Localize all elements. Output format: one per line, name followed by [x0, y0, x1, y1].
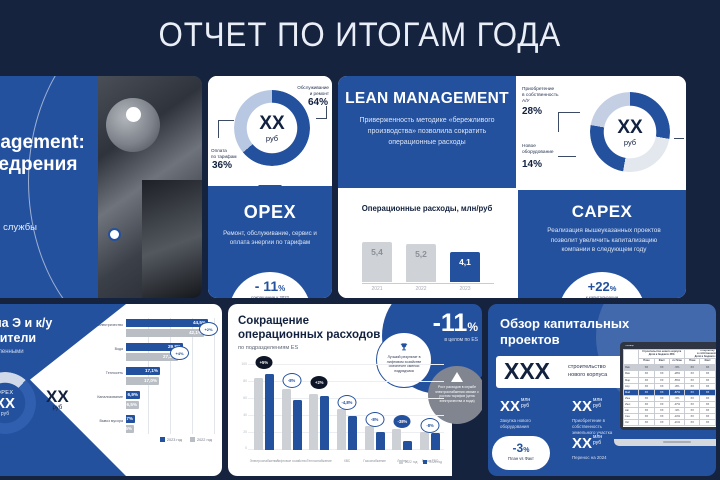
table-cell: XX [639, 420, 654, 426]
x-label-2021: 2021 [362, 286, 392, 292]
capex-item-label-2: Новое оборудование [522, 144, 572, 156]
capital-title: Обзор капитальных проектов [500, 316, 632, 347]
bar-group: +5% Электроснабжение [254, 374, 274, 450]
reduction-kpi-value: -11 [433, 309, 468, 337]
laptop-mockup: Таблица Строительство нового корпуса Дол… [614, 342, 716, 446]
bar-2022: 5,2 [406, 244, 436, 282]
lean-panel: LEAN MANAGEMENT Приверженность методике … [338, 76, 516, 188]
slide-card-opex[interactable]: XX руб Обслуживание и ремонт 64% Оплата … [208, 76, 332, 298]
warning-triangle-icon [451, 372, 463, 382]
leader-line-3 [674, 138, 684, 139]
capex-chip: +22% к капитализации компании [558, 272, 646, 298]
ring-unit: руб [1, 411, 9, 417]
laptop-lid: Таблица Строительство нового корпуса Дол… [620, 342, 716, 430]
capital-kpi-2-value: XX [572, 399, 592, 414]
opex-panel-title: OPEX [208, 202, 332, 223]
hbar-2022: 17,0% [126, 377, 159, 385]
leader-line-2 [558, 156, 576, 157]
hbar-2022: 1,5% [126, 425, 134, 433]
slide-card-lean-capex[interactable]: LEAN MANAGEMENT Приверженность методике … [338, 76, 686, 298]
leader-line-v [218, 120, 219, 138]
laptop-base [614, 439, 716, 446]
opex-chip: - 11% сокращение к 2022 [229, 272, 311, 298]
capital-kpi-1: XXмлн руб Закупка нового оборудования [500, 398, 562, 430]
bar-prev [420, 432, 429, 450]
capex-item-label-1: Приобретение в собственность А/У [522, 87, 576, 105]
hbar-2023: 6,9% [126, 391, 140, 399]
capital-pill-caption: План vs Факт [492, 456, 550, 461]
bar-prev [337, 409, 346, 450]
bar-curr [431, 433, 440, 450]
capex-item-value-1: 28% [522, 106, 542, 117]
capital-kpi-1-unit: млн руб [521, 398, 530, 409]
bar-group: -8% Газоснабжение [365, 426, 385, 450]
bar-value-2023: 4,1 [450, 257, 480, 267]
capex-item-value-2: 14% [522, 159, 542, 170]
bar-group-label: Лифтовое хозяйство [276, 459, 306, 463]
slide1-subtitle: Отчет инженерной службы [0, 221, 133, 235]
bar-group: -4,8% ХВС [337, 409, 357, 450]
hbar-row: Канализование 6,9% 6,5% [78, 390, 218, 412]
energy-big-value-block: XX руб [46, 388, 69, 411]
lean-title: LEAN MANAGEMENT [338, 90, 516, 108]
spreadsheet-group-header-row: Строительство нового корпуса Доля в бюдж… [624, 350, 717, 359]
hbar-row: Электричество 44,5% 42,1% +2% [78, 318, 218, 340]
bar-group: +2% Теплоснабжение [309, 394, 329, 450]
row-month: Окт [624, 420, 639, 426]
bar-axis-line [362, 283, 494, 284]
capex-donut-area: XX руб Приобретение в собственность А/У … [518, 76, 686, 188]
delta-badge: -8% [365, 412, 384, 427]
group-header-2: Покупка а/у в собственность Доля в бюдже… [685, 350, 716, 359]
bar-group: -38% Лифты [392, 429, 412, 450]
capital-kpi-3-value: XX [572, 436, 592, 451]
bar-group-label: Электроснабжение [250, 459, 278, 463]
hbar-2022: 6,5% [126, 401, 139, 409]
hbar-value: 17,0% [144, 378, 157, 383]
slide-card-reduction[interactable]: Сокращение операционных расходов по подр… [228, 304, 482, 476]
hbar-row: Теплосеть 17,1% 17,0% [78, 366, 218, 388]
opex-chip-number: - 11 [255, 278, 278, 294]
opex-segment-value-1: 64% [308, 97, 328, 108]
hbar-category: Электричество [78, 323, 123, 327]
opex-donut-area: XX руб Обслуживание и ремонт 64% Оплата … [208, 76, 332, 186]
donut-center-unit: руб [624, 138, 636, 147]
hbar-value: 1,5% [122, 426, 132, 431]
panel-notch-icon [589, 190, 615, 201]
capital-pill-unit: % [523, 447, 529, 454]
hbar-2023: 44,5% [126, 319, 208, 327]
capital-kpi-3-caption: Перенос на 2024 [572, 455, 634, 461]
opex-bar-series: 5,4 5,2 4,1 [362, 220, 494, 282]
slide-card-capital-projects[interactable]: Обзор капитальных проектов XXX строитель… [488, 304, 716, 476]
bar-group: -8% Лифтовое хозяйство [282, 389, 302, 450]
leader-line [558, 112, 580, 113]
hbar-category: Теплосеть [78, 371, 123, 375]
capex-chip-number: +22 [588, 279, 610, 294]
bar-x-labels: 2021 2022 2023 [362, 286, 494, 292]
bar-2023: 4,1 [450, 252, 480, 282]
opex-chip-value: - 11% [229, 278, 311, 294]
capex-chip-value: +22% [558, 279, 646, 294]
hbar-row: Вывоз мусора 1,7% 1,5% [78, 414, 218, 436]
ring-value: XX [0, 396, 15, 411]
reduction-kpi-unit: % [467, 320, 478, 334]
panel-notch-icon [258, 185, 282, 197]
leader-line-2 [316, 118, 326, 119]
bar-group-label: Теплоснабжение [307, 459, 332, 463]
lean-text: Приверженность методике «бережливого про… [356, 116, 498, 149]
slide-gallery-page: ОТЧЕТ ПО ИТОГАМ ГОДА lean management: ит… [0, 0, 720, 480]
reduction-kpi-caption: в целом по ES [433, 337, 478, 343]
delta-badge: +5% [255, 356, 272, 369]
slide-card-title[interactable]: lean management: итоги внедрения Отчет и… [0, 76, 202, 298]
corner-cell [624, 350, 639, 365]
capital-pill-value: -3 [513, 441, 524, 455]
bar-prev [309, 394, 318, 450]
page-header: ОТЧЕТ ПО ИТОГАМ ГОДА [0, 0, 720, 70]
slide1-title: lean management: итоги внедрения [0, 132, 146, 177]
energy-big-value: XX [46, 388, 69, 405]
spreadsheet-body: ЯнвXXXX-5%XXXX-2%ФевXXXX-28%XXXX-4%МарXX… [624, 365, 717, 426]
decor-dot-icon [126, 107, 141, 122]
bar-value-2021: 5,4 [362, 247, 392, 257]
bar-group: -8% Вывоз ТБО [420, 432, 440, 450]
table-row[interactable]: ОктXXXX-21%XXXX-2% [624, 420, 717, 426]
capital-kpi-3-unit: млн руб [593, 435, 602, 446]
hbar-delta-badge: +4% [170, 346, 189, 360]
donut-center-value: XX [617, 118, 642, 137]
reduction-chart: 1008060 40200 +5% Электроснабжение -8% [238, 362, 444, 464]
spreadsheet-head: Строительство нового корпуса Доля в бюдж… [624, 350, 717, 365]
bar-curr [376, 432, 385, 450]
capex-chip-caption: к капитализации компании [558, 295, 646, 298]
opex-bar-chart-panel: Операционные расходы, млн/руб 5,4 5,2 4,… [338, 190, 516, 298]
bar-2021: 5,4 [362, 242, 392, 282]
capex-chip-unit: % [610, 284, 617, 293]
hbar-2023: 1,7% [126, 415, 135, 423]
delta-badge: -8% [421, 418, 440, 433]
hbar-value: 17,1% [145, 368, 158, 373]
reduction-chart-legend: 2022 год 2023 год [399, 460, 442, 464]
legend-item: 2022 год [399, 460, 418, 464]
donut-center-label: XX руб [590, 92, 670, 172]
capital-kpi-2-unit: млн руб [593, 398, 602, 409]
reduction-bar-groups: +5% Электроснабжение -8% Лифтовое хозяйс… [250, 362, 444, 450]
hbar-2023: 17,1% [126, 367, 160, 375]
bar-prev [254, 378, 263, 450]
hbar-value: 1,7% [123, 416, 133, 421]
opex-segment-label-1: Обслуживание и ремонт [279, 85, 329, 96]
leader-line [218, 120, 234, 121]
bar-curr [403, 441, 412, 450]
energy-ring-label: OPEX XX руб [0, 372, 36, 434]
leader-line-2v [326, 106, 327, 119]
capital-band-value: XXX [504, 360, 550, 383]
hbar-2022: 42,1% [126, 329, 204, 337]
capital-pill: -3% План vs Факт [492, 436, 550, 470]
bar-value-2022: 5,2 [406, 249, 436, 259]
reduction-subtitle: по подразделениям ES [238, 345, 298, 351]
group-header-1: Строительство нового корпуса Доля в бюдж… [639, 350, 685, 359]
bar-curr [265, 374, 274, 450]
capex-donut-chart: XX руб [590, 92, 670, 172]
delta-badge: -38% [394, 415, 411, 428]
slide-card-energy[interactable]: Расходы на Э и к/у энергоносители в срав… [0, 304, 222, 476]
opex-chip-caption: сокращение к 2022 [229, 295, 311, 298]
opex-bar-title: Операционные расходы, млн/руб [338, 204, 516, 213]
panel-notch-icon [414, 190, 440, 201]
bar-prev [282, 389, 291, 450]
capex-title: CAPEX [518, 202, 686, 222]
capex-text: Реализация вышеуказанных проектов позвол… [544, 226, 664, 255]
delta-badge: -8% [282, 373, 301, 388]
donut-center-value: XX [259, 114, 284, 133]
hbar-delta-badge: +2% [199, 322, 218, 336]
page-title: ОТЧЕТ ПО ИТОГАМ ГОДА [159, 16, 562, 55]
opex-segment-value-2: 36% [212, 160, 232, 171]
delta-badge: +2% [311, 376, 328, 389]
opex-panel: OPEX Ремонт, обслуживание, сервис и опла… [208, 186, 332, 298]
hbar-category: Вывоз мусора [78, 419, 123, 423]
x-label-2023: 2023 [450, 286, 480, 292]
reduction-title: Сокращение операционных расходов [238, 314, 388, 342]
table-cell: XX [685, 420, 700, 426]
bar-curr [348, 416, 357, 450]
table-cell: -2% [715, 420, 716, 426]
laptop-screen: Таблица Строительство нового корпуса Дол… [623, 345, 716, 427]
legend-item: 2023 год [423, 460, 442, 464]
legend-item: 2023 год [160, 437, 182, 442]
delta-badge: -4,8% [337, 395, 356, 410]
energy-bar-chart: Электричество 44,5% 42,1% +2% Вода 29,8%… [78, 318, 218, 448]
hbar-value: 6,5% [127, 402, 137, 407]
opex-chip-unit: % [278, 284, 285, 293]
donut-center-unit: руб [266, 134, 278, 143]
hbar-category: Вода [78, 347, 123, 351]
leader-line-v [558, 112, 559, 132]
bar-prev [365, 426, 374, 450]
energy-chart-legend: 2023 год 2022 год [160, 437, 212, 442]
hbar-value: 6,9% [128, 392, 138, 397]
capex-panel: CAPEX Реализация вышеуказанных проектов … [518, 190, 686, 298]
chart-y-axis: 1008060 40200 [238, 362, 248, 450]
bar-group-label: ХВС [344, 459, 350, 463]
capital-kpi-1-value: XX [500, 399, 520, 414]
opex-panel-text: Ремонт, обслуживание, сервис и оплата эн… [217, 230, 323, 248]
table-cell: XX [654, 420, 669, 426]
trophy-icon [398, 340, 410, 351]
table-cell: XX [700, 420, 715, 426]
bar-prev [392, 429, 401, 450]
energy-title: Расходы на Э и к/у энергоносители [0, 316, 86, 346]
bar-curr [293, 400, 302, 450]
spreadsheet-table: Строительство нового корпуса Доля в бюдж… [623, 349, 716, 426]
bar-curr [320, 396, 329, 450]
hbar-row: Вода 29,8% 27,2% +4% [78, 342, 218, 364]
opex-segment-label-2: Оплата по тарифам [211, 148, 255, 159]
x-label-2022: 2022 [406, 286, 436, 292]
legend-item: 2022 год [190, 437, 212, 442]
hbar-category: Канализование [78, 395, 123, 399]
slide-row-bottom: Расходы на Э и к/у энергоносители в срав… [0, 304, 720, 480]
cover-photo [98, 76, 202, 298]
slide-row-top: lean management: итоги внедрения Отчет и… [0, 76, 720, 300]
bar-group-label: Газоснабжение [363, 459, 386, 463]
capital-kpi-1-caption: Закупка нового оборудования [500, 418, 562, 430]
table-cell: -21% [669, 420, 684, 426]
reduction-kpi: -11% в целом по ES [433, 312, 478, 343]
